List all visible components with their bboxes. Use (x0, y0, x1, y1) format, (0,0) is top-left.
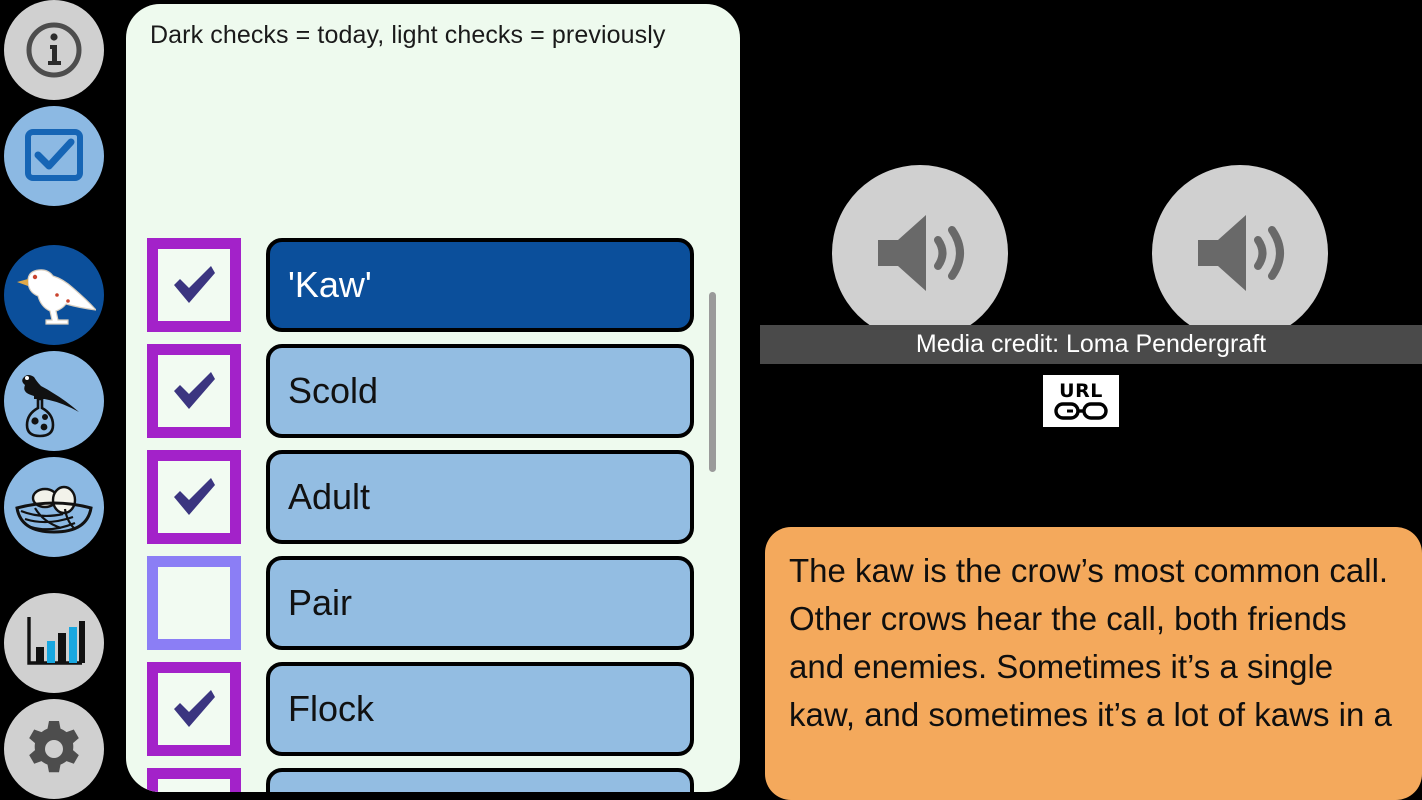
nest-eggs-icon (11, 475, 97, 539)
sidebar-item-nest[interactable] (4, 457, 104, 557)
info-card: The kaw is the crow’s most common call. … (765, 527, 1422, 800)
speaker-icon (1188, 207, 1292, 299)
sidebar-item-info[interactable] (4, 0, 104, 100)
info-icon (23, 19, 85, 81)
list-item[interactable]: Adult (126, 448, 740, 551)
speaker-icon (868, 207, 972, 299)
list-item[interactable]: Scold (126, 342, 740, 445)
url-link-button[interactable]: URL (1043, 375, 1119, 427)
check-icon (168, 471, 220, 523)
crow-icon (12, 259, 96, 331)
sidebar (0, 0, 108, 800)
checkbox-icon (23, 128, 85, 184)
url-badge-label: URL (1059, 382, 1103, 401)
play-sound-button-2[interactable] (1152, 165, 1328, 341)
checkbox-pair[interactable] (147, 556, 241, 650)
sidebar-item-stats[interactable] (4, 593, 104, 693)
check-icon (168, 683, 220, 735)
checkbox-flock[interactable] (147, 662, 241, 756)
checkbox-scold[interactable] (147, 344, 241, 438)
checklist-legend: Dark checks = today, light checks = prev… (150, 21, 665, 50)
bar-chart-icon (20, 613, 88, 673)
chain-link-icon (1053, 401, 1109, 421)
app-root: Dark checks = today, light checks = prev… (0, 0, 1422, 800)
list-item-label[interactable]: 'Kaw' (266, 238, 694, 332)
sidebar-item-behavior[interactable] (4, 351, 104, 451)
checkbox-kaw[interactable] (147, 238, 241, 332)
checklist-panel: Dark checks = today, light checks = prev… (126, 4, 740, 792)
list-item[interactable]: Flock (126, 660, 740, 763)
list-item[interactable]: 'Kaw' (126, 236, 740, 339)
sidebar-item-crow[interactable] (4, 245, 104, 345)
check-icon (168, 259, 220, 311)
list-item-label[interactable]: Pair (266, 556, 694, 650)
check-icon (168, 365, 220, 417)
media-area: Media credit: Loma Pendergraft URL The k… (760, 0, 1422, 800)
list-item-label[interactable]: Adult (266, 450, 694, 544)
checkbox-next[interactable] (147, 768, 241, 792)
list-item-label[interactable]: Scold (266, 344, 694, 438)
play-sound-button-1[interactable] (832, 165, 1008, 341)
checklist-scroll-area[interactable]: 'Kaw' Scold Adult (126, 236, 740, 792)
crow-bottle-icon (12, 363, 96, 439)
gear-icon (23, 718, 85, 780)
sidebar-item-checklist[interactable] (4, 106, 104, 206)
checkbox-adult[interactable] (147, 450, 241, 544)
list-item-label[interactable] (266, 768, 694, 792)
sidebar-item-settings[interactable] (4, 699, 104, 799)
media-credit: Media credit: Loma Pendergraft (760, 325, 1422, 364)
list-scrollbar[interactable] (709, 292, 716, 472)
list-item[interactable] (126, 766, 740, 792)
check-icon (168, 789, 220, 792)
list-item-label[interactable]: Flock (266, 662, 694, 756)
list-item[interactable]: Pair (126, 554, 740, 657)
